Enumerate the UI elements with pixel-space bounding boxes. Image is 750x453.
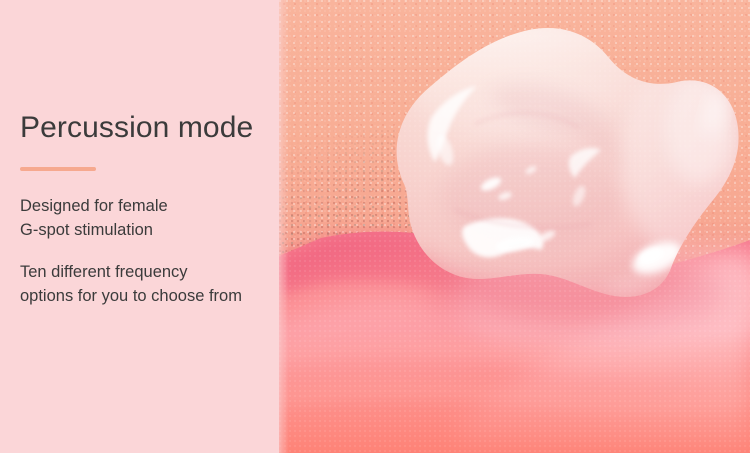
feature-description-2-line-1: Ten different frequency bbox=[20, 260, 242, 284]
silicone-blob-svg bbox=[279, 0, 750, 453]
feature-description-2: Ten different frequency options for you … bbox=[20, 260, 242, 308]
blob-body bbox=[279, 0, 750, 453]
page-title: Percussion mode bbox=[20, 110, 253, 146]
silicone-blob bbox=[279, 0, 750, 453]
product-closeup-photo bbox=[279, 0, 750, 453]
accent-underline bbox=[20, 167, 96, 171]
feature-description-2-line-2: options for you to choose from bbox=[20, 284, 242, 308]
feature-description-1: Designed for female G-spot stimulation bbox=[20, 194, 168, 242]
feature-description-1-line-1: Designed for female bbox=[20, 194, 168, 218]
feature-description-1-line-2: G-spot stimulation bbox=[20, 218, 168, 242]
product-feature-banner: Percussion mode Designed for female G-sp… bbox=[0, 0, 750, 453]
